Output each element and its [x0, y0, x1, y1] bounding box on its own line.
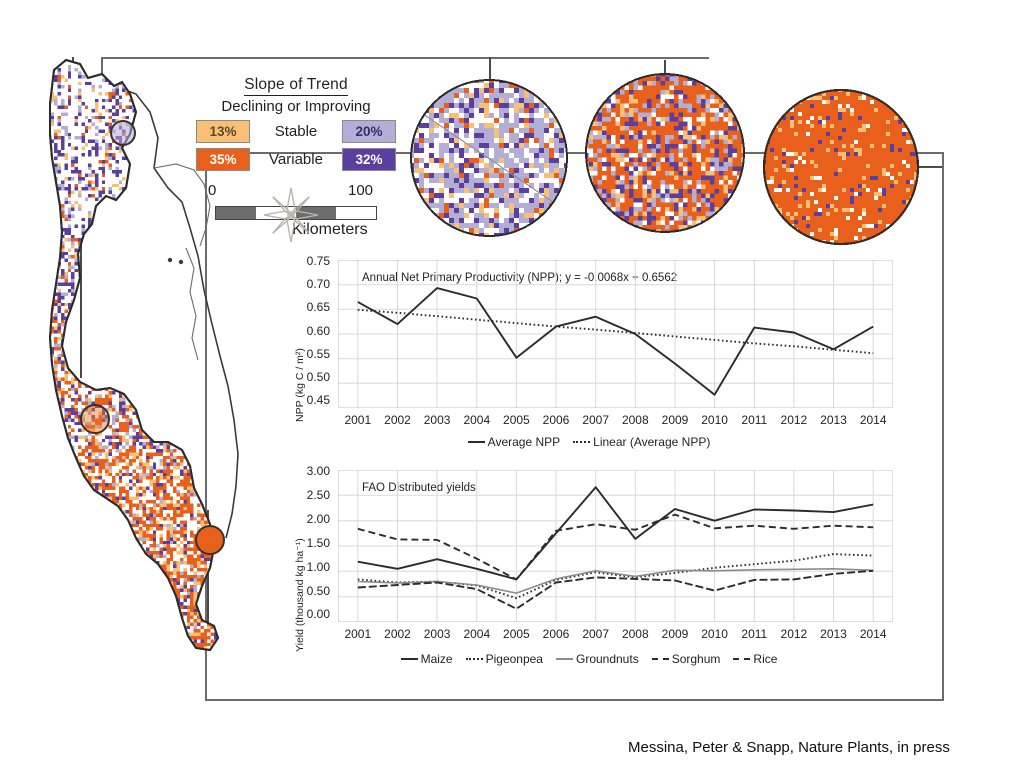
- yield-xtick: 2012: [774, 627, 814, 641]
- inset-south-svg: [762, 88, 920, 246]
- legend-swatch-improving-stable: 20%: [342, 120, 396, 143]
- npp-legend-marker-solid: [468, 441, 485, 443]
- npp-legend-label-1: Linear (Average NPP): [593, 435, 710, 449]
- map-marker-south[interactable]: [195, 525, 225, 555]
- npp-ytick: 0.55: [284, 347, 330, 361]
- yield-legend-marker-groundnuts: [556, 658, 573, 660]
- inset-circle-south[interactable]: [762, 88, 920, 246]
- npp-ytick: 0.60: [284, 324, 330, 338]
- npp-ytick: 0.50: [284, 370, 330, 384]
- npp-xtick: 2011: [734, 413, 774, 427]
- map-marker-central[interactable]: [80, 404, 110, 434]
- yield-ytick: 0.50: [284, 584, 330, 598]
- yield-chart[interactable]: Yield (thousand kg ha⁻¹) 3.002.502.001.5…: [284, 462, 894, 677]
- map-scale-bar: 0 100 Kilometers: [200, 180, 390, 242]
- legend-label-variable: Variable: [250, 151, 342, 168]
- compass-rose-icon: [262, 186, 320, 244]
- legend-label-stable: Stable: [250, 123, 342, 140]
- yield-ytick: 2.50: [284, 488, 330, 502]
- yield-legend-label-4: Rice: [753, 652, 777, 666]
- yield-plot: [338, 470, 893, 622]
- yield-legend-marker-rice: [733, 658, 750, 660]
- npp-legend-label-0: Average NPP: [488, 435, 561, 449]
- yield-legend-marker-pigeonpea: [466, 658, 483, 660]
- map-legend: Slope of Trend Declining or Improving 13…: [196, 76, 396, 171]
- yield-ytick: 2.00: [284, 512, 330, 526]
- yield-xtick: 2014: [853, 627, 893, 641]
- yield-legend-marker-maize: [401, 658, 418, 660]
- map-dot-b: [179, 260, 183, 264]
- yield-xtick: 2004: [457, 627, 497, 641]
- map-dot-a: [168, 258, 172, 262]
- yield-legend-item-1: Pigeonpea: [466, 652, 543, 666]
- inset-circle-north[interactable]: [409, 78, 569, 238]
- yield-legend-item-2: Groundnuts: [556, 652, 639, 666]
- npp-plot: [338, 260, 893, 408]
- legend-swatch-declining-variable: 35%: [196, 148, 250, 171]
- npp-xtick: 2002: [378, 413, 418, 427]
- yield-xtick: 2003: [417, 627, 457, 641]
- legend-subtitle: Declining or Improving: [196, 98, 396, 115]
- scale-min-label: 0: [208, 182, 216, 199]
- npp-xtick: 2005: [496, 413, 536, 427]
- npp-ytick: 0.45: [284, 393, 330, 407]
- yield-xtick: 2002: [378, 627, 418, 641]
- npp-ytick: 0.75: [284, 254, 330, 268]
- inset-central-svg: [584, 72, 746, 234]
- yield-xtick: 2007: [576, 627, 616, 641]
- npp-xtick: 2001: [338, 413, 378, 427]
- yield-ytick: 3.00: [284, 464, 330, 478]
- npp-xtick: 2003: [417, 413, 457, 427]
- yield-legend-item-4: Rice: [733, 652, 777, 666]
- yield-legend-label-2: Groundnuts: [576, 652, 639, 666]
- legend-row-variable: 35% Variable 32%: [196, 148, 396, 171]
- yield-xtick: 2013: [814, 627, 854, 641]
- npp-legend-item-0: Average NPP: [468, 435, 561, 449]
- npp-chart[interactable]: NPP (kg C / m²) 0.750.700.650.600.550.50…: [284, 252, 894, 457]
- npp-xtick: 2009: [655, 413, 695, 427]
- yield-xtick: 2010: [695, 627, 735, 641]
- npp-xtick: 2014: [853, 413, 893, 427]
- yield-ytick: 0.00: [284, 607, 330, 621]
- slide-canvas: Slope of Trend Declining or Improving 13…: [0, 0, 1024, 768]
- yield-legend-marker-sorghum: [652, 658, 669, 660]
- npp-legend-marker-dotted: [573, 441, 590, 443]
- yield-xtick: 2009: [655, 627, 695, 641]
- legend-row-stable: 13% Stable 20%: [196, 120, 396, 143]
- yield-legend-label-1: Pigeonpea: [486, 652, 543, 666]
- legend-swatch-improving-variable: 32%: [342, 148, 396, 171]
- yield-xtick: 2011: [734, 627, 774, 641]
- yield-legend-item-0: Maize: [401, 652, 453, 666]
- source-caption: Messina, Peter & Snapp, Nature Plants, i…: [628, 739, 950, 756]
- yield-xtick: 2001: [338, 627, 378, 641]
- yield-xtick: 2005: [496, 627, 536, 641]
- npp-xtick: 2004: [457, 413, 497, 427]
- yield-xtick: 2006: [536, 627, 576, 641]
- scale-seg-1: [216, 207, 256, 219]
- yield-legend: Maize Pigeonpea Groundnuts Sorghum Rice: [284, 652, 894, 666]
- scale-max-label: 100: [348, 182, 373, 199]
- yield-legend-label-0: Maize: [421, 652, 453, 666]
- scale-seg-4: [336, 207, 376, 219]
- npp-ytick: 0.70: [284, 277, 330, 291]
- yield-xtick: 2008: [615, 627, 655, 641]
- npp-ytick: 0.65: [284, 300, 330, 314]
- npp-xtick: 2010: [695, 413, 735, 427]
- npp-xtick: 2012: [774, 413, 814, 427]
- npp-xtick: 2007: [576, 413, 616, 427]
- npp-xtick: 2006: [536, 413, 576, 427]
- npp-xtick: 2013: [814, 413, 854, 427]
- leader-line-inset1: [489, 57, 491, 79]
- inset-circle-central[interactable]: [584, 72, 746, 234]
- yield-legend-label-3: Sorghum: [672, 652, 721, 666]
- yield-ytick: 1.50: [284, 536, 330, 550]
- district-line-b: [186, 248, 198, 360]
- yield-legend-item-3: Sorghum: [652, 652, 721, 666]
- map-marker-north[interactable]: [110, 120, 136, 146]
- legend-swatch-declining-stable: 13%: [196, 120, 250, 143]
- npp-legend: Average NPP Linear (Average NPP): [284, 435, 894, 449]
- legend-title: Slope of Trend: [244, 76, 348, 96]
- npp-xtick: 2008: [615, 413, 655, 427]
- inset-north-svg: [409, 78, 569, 238]
- yield-ytick: 1.00: [284, 560, 330, 574]
- leader-line-inset3: [918, 166, 942, 168]
- npp-legend-item-1: Linear (Average NPP): [573, 435, 710, 449]
